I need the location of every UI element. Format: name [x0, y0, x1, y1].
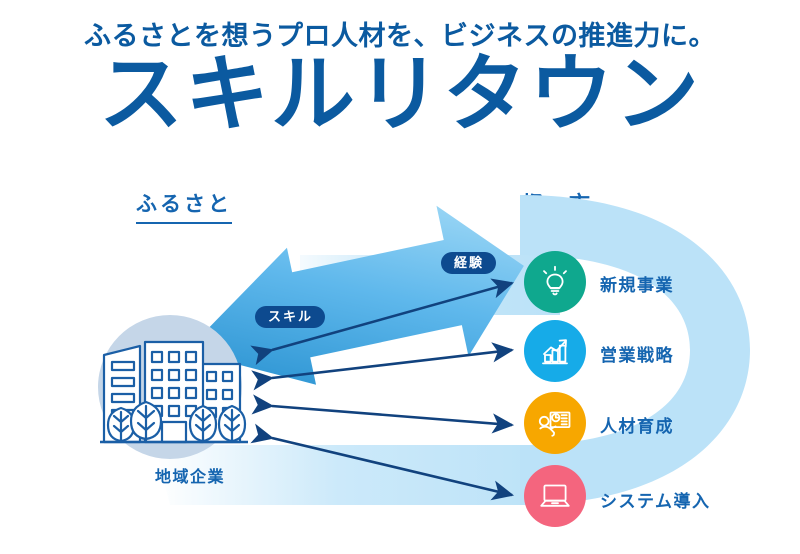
city-label-1: 営業戦略 [600, 341, 674, 366]
presentation-person-icon [537, 406, 573, 440]
tree-icon [219, 406, 245, 442]
local-company-caption: 地域企業 [110, 463, 270, 487]
tree-icon [190, 406, 216, 442]
connector-arrow-3 [272, 406, 512, 425]
bar-chart-growth-icon [538, 334, 572, 368]
city-label-2: 人材育成 [600, 412, 674, 437]
skill-return-infographic: ふるさとを想うプロ人材を、ビジネスの推進力に。 スキルリタウン ふるさと 都 市 [0, 0, 800, 554]
laptop-icon [537, 480, 573, 512]
city-icon-circle-2[interactable] [524, 392, 586, 454]
city-icon-circle-3[interactable] [524, 465, 586, 527]
badge-experience: 経験 [441, 252, 496, 274]
city-label-0: 新規事業 [600, 271, 674, 296]
page-title: スキルリタウン [0, 48, 800, 140]
lightbulb-icon [538, 265, 572, 299]
city-icon-circle-0[interactable] [524, 251, 586, 313]
city-icon-circle-1[interactable] [524, 320, 586, 382]
city-label-3: システム導入 [600, 487, 711, 512]
tree-icon [108, 408, 134, 442]
badge-skill: スキル [255, 306, 325, 328]
